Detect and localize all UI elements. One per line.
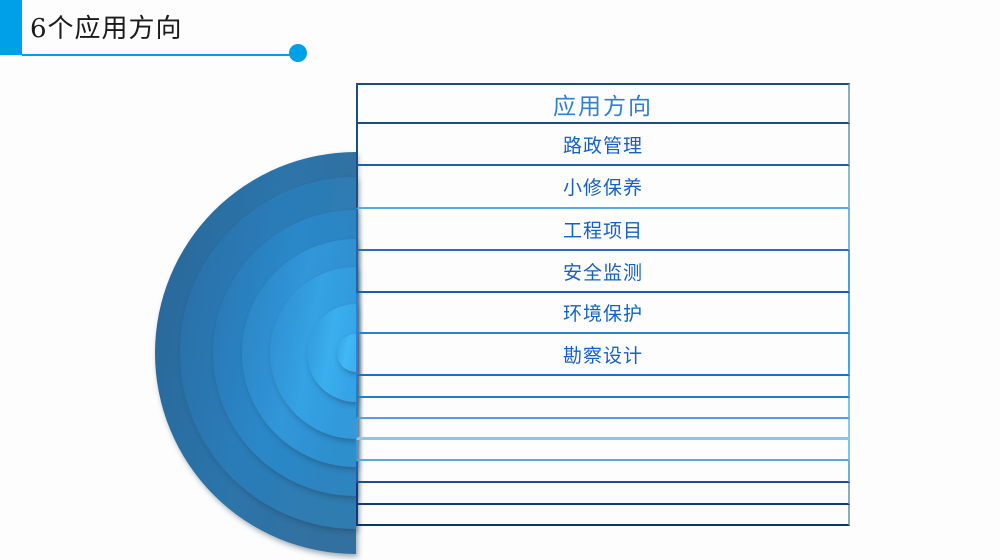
- table-row[interactable]: 小修保养: [356, 166, 850, 209]
- table-row[interactable]: 安全监测: [356, 251, 850, 293]
- table-row[interactable]: 工程项目: [356, 209, 850, 251]
- table-cell-label: 工程项目: [563, 216, 643, 243]
- ring-7: [337, 334, 356, 372]
- table-row-empty[interactable]: [356, 376, 850, 398]
- table-row[interactable]: 路政管理: [356, 124, 850, 166]
- table-row[interactable]: 勘察设计: [356, 334, 850, 376]
- table-row[interactable]: 环境保护: [356, 293, 850, 334]
- table-cell-label: 安全监测: [563, 258, 643, 285]
- page-title: 6个应用方向: [30, 16, 183, 42]
- table-row-empty[interactable]: [356, 419, 850, 440]
- title-underline: [22, 54, 298, 56]
- ring-1: [155, 152, 356, 554]
- table-row-empty[interactable]: [356, 440, 850, 461]
- table-row-empty[interactable]: [356, 505, 850, 526]
- application-directions-table: 应用方向 路政管理 小修保养 工程项目 安全监测 环境保护 勘察设计: [356, 83, 850, 526]
- accent-bar: [0, 0, 22, 55]
- ring-4: [242, 239, 356, 467]
- table-cell-label: 小修保养: [563, 173, 643, 200]
- ring-5: [270, 267, 356, 439]
- table-cell-label: 环境保护: [563, 299, 643, 326]
- ring-2: [180, 177, 356, 529]
- table-cell-label: 勘察设计: [563, 341, 643, 368]
- ring-3: [213, 210, 356, 496]
- table-cell-label: 路政管理: [563, 131, 643, 158]
- table-row-empty[interactable]: [356, 398, 850, 419]
- table-row-empty[interactable]: [356, 461, 850, 483]
- table-header-row: 应用方向: [356, 83, 850, 124]
- slide-canvas: 6个应用方向: [0, 0, 1000, 560]
- table-row-empty[interactable]: [356, 483, 850, 505]
- ring-6: [307, 304, 356, 402]
- title-dot-icon: [289, 44, 307, 62]
- table-header-label: 应用方向: [553, 87, 653, 121]
